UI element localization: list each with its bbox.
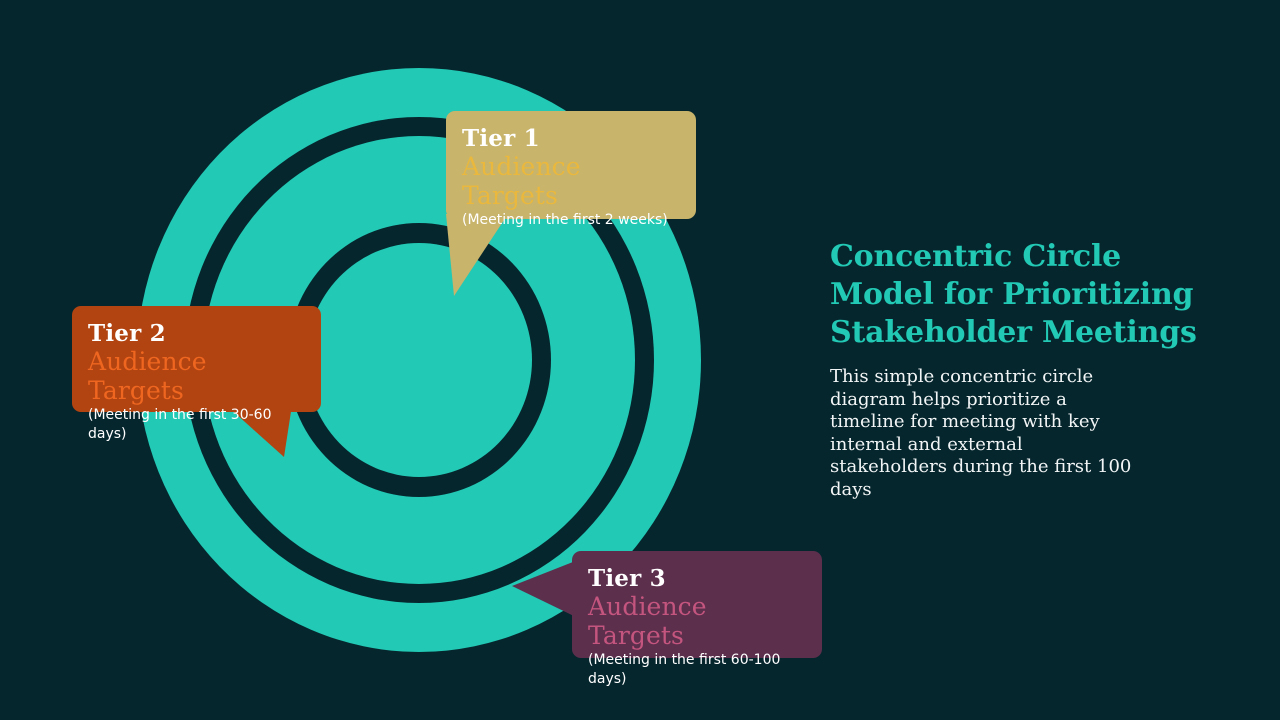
callout-tier3-accent: Audience Targets [588,592,804,650]
callout-tier3-title: Tier 3 [588,565,804,592]
panel-heading: Concentric Circle Model for Prioritizing… [830,238,1202,352]
callout-tier1[interactable]: Tier 1 Audience Targets (Meeting in the … [446,111,696,219]
inner-circle-shape [306,243,532,477]
callout-tier2[interactable]: Tier 2 Audience Targets (Meeting in the … [72,306,321,412]
callout-tier3-note: (Meeting in the first 60-100 days) [588,651,804,689]
text-panel: Concentric Circle Model for Prioritizing… [830,238,1202,501]
callout-tier2-title: Tier 2 [88,320,303,347]
callout-tier3[interactable]: Tier 3 Audience Targets (Meeting in the … [572,551,822,658]
callout-tier2-accent: Audience Targets [88,347,303,405]
callout-tier2-note: (Meeting in the first 30-60 days) [88,406,303,444]
callout-tier1-accent: Audience Targets [462,152,678,210]
callout-tier1-note: (Meeting in the first 2 weeks) [462,211,678,230]
panel-body: This simple concentric circle diagram he… [830,366,1142,501]
slide-canvas: Tier 1 Audience Targets (Meeting in the … [0,0,1280,720]
callout-tier1-title: Tier 1 [462,125,678,152]
